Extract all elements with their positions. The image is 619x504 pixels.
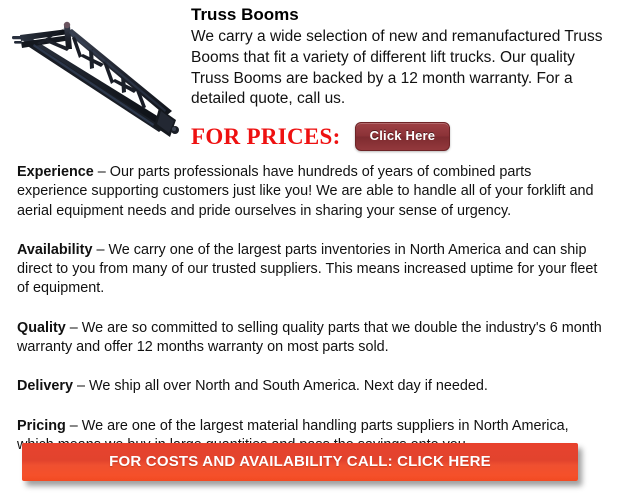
feature-lead-pricing: Pricing [17,418,66,434]
feature-dash: – [94,164,110,180]
features-list: Experience – Our parts professionals hav… [17,163,603,455]
feature-text-quality: We are so committed to selling quality p… [17,320,602,355]
feature-dash: – [66,320,82,336]
feature-experience: Experience – Our parts professionals hav… [17,163,603,221]
cta-banner-label: FOR COSTS AND AVAILABILITY CALL: CLICK H… [109,453,491,471]
page-title: Truss Booms [191,4,609,25]
feature-dash: – [73,378,89,394]
truss-boom-product-image [4,4,186,152]
feature-delivery: Delivery – We ship all over North and So… [17,377,603,396]
click-here-button[interactable]: Click Here [355,122,451,151]
for-prices-label: FOR PRICES: [191,124,341,150]
feature-quality: Quality – We are so committed to selling… [17,319,603,358]
cta-banner-button[interactable]: FOR COSTS AND AVAILABILITY CALL: CLICK H… [22,443,578,481]
hero-section: Truss Booms We carry a wide selection of… [0,0,619,160]
feature-text-delivery: We ship all over North and South America… [89,378,488,394]
feature-dash: – [66,418,82,434]
for-prices-row: FOR PRICES: Click Here [191,122,450,151]
feature-dash: – [92,242,108,258]
feature-lead-experience: Experience [17,164,94,180]
feature-lead-quality: Quality [17,320,66,336]
feature-availability: Availability – We carry one of the large… [17,241,603,299]
feature-lead-availability: Availability [17,242,92,258]
feature-lead-delivery: Delivery [17,378,73,394]
hero-copy: Truss Booms We carry a wide selection of… [191,4,609,110]
hero-description: We carry a wide selection of new and rem… [191,27,609,110]
